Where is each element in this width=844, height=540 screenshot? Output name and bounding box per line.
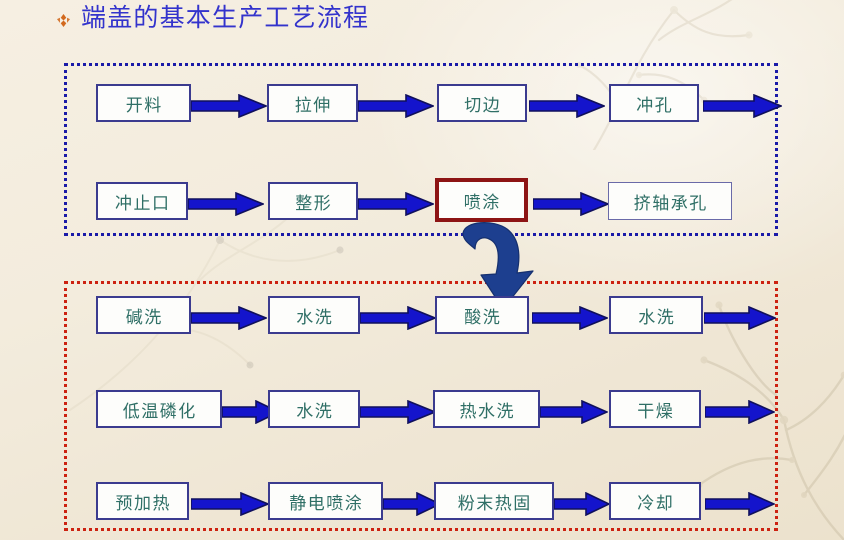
- process-box-zhengxing[interactable]: 整形: [268, 182, 358, 220]
- arrow-right: [358, 192, 434, 216]
- process-box-chongkong[interactable]: 冲孔: [609, 84, 699, 122]
- arrow-right: [383, 492, 441, 516]
- process-box-qiebian[interactable]: 切边: [437, 84, 527, 122]
- process-box-jingdianpentu[interactable]: 静电喷涂: [268, 482, 383, 520]
- process-box-ganzao[interactable]: 干燥: [609, 390, 701, 428]
- process-box-shuixi-1[interactable]: 水洗: [268, 296, 360, 334]
- process-box-jianxi[interactable]: 碱洗: [96, 296, 191, 334]
- arrow-right: [191, 492, 269, 516]
- process-box-reshuixi[interactable]: 热水洗: [433, 390, 540, 428]
- process-box-chongzhikou[interactable]: 冲止口: [96, 182, 188, 220]
- arrow-right: [191, 306, 267, 330]
- process-box-diwenlinhua[interactable]: 低温磷化: [96, 390, 222, 428]
- process-box-shuixi-2[interactable]: 水洗: [609, 296, 703, 334]
- arrow-right-trailing: [705, 492, 775, 516]
- process-box-kailiao[interactable]: 开料: [96, 84, 191, 122]
- arrow-right: [188, 192, 264, 216]
- process-box-yujiare[interactable]: 预加热: [96, 482, 189, 520]
- arrow-right: [358, 94, 434, 118]
- diamond-bullet-icon: [57, 14, 70, 27]
- arrow-right: [540, 400, 608, 424]
- arrow-right-trailing: [703, 94, 782, 118]
- process-box-jizhouchengkong[interactable]: 挤轴承孔: [608, 182, 732, 220]
- arrow-right-trailing: [705, 400, 775, 424]
- arrow-right-trailing: [704, 306, 776, 330]
- slide-title-row: 端盖的基本生产工艺流程: [57, 2, 369, 36]
- process-box-lashen[interactable]: 拉伸: [267, 84, 358, 122]
- arrow-right: [533, 192, 609, 216]
- arrow-right: [529, 94, 605, 118]
- arrow-right: [554, 492, 610, 516]
- arrow-right: [360, 306, 436, 330]
- process-box-pentu-highlighted[interactable]: 喷涂: [435, 178, 528, 222]
- process-box-lengque[interactable]: 冷却: [609, 482, 701, 520]
- arrow-right: [532, 306, 608, 330]
- page-title: 端盖的基本生产工艺流程: [81, 2, 369, 36]
- arrow-right: [360, 400, 436, 424]
- process-box-fenmoregu[interactable]: 粉末热固: [434, 482, 554, 520]
- slide-canvas: 端盖的基本生产工艺流程 开料 拉伸 切边 冲孔 冲止口 整形 喷涂 挤轴承孔 碱…: [0, 0, 844, 540]
- process-box-shuixi-3[interactable]: 水洗: [268, 390, 360, 428]
- process-box-suanxi[interactable]: 酸洗: [435, 296, 529, 334]
- arrow-right: [191, 94, 267, 118]
